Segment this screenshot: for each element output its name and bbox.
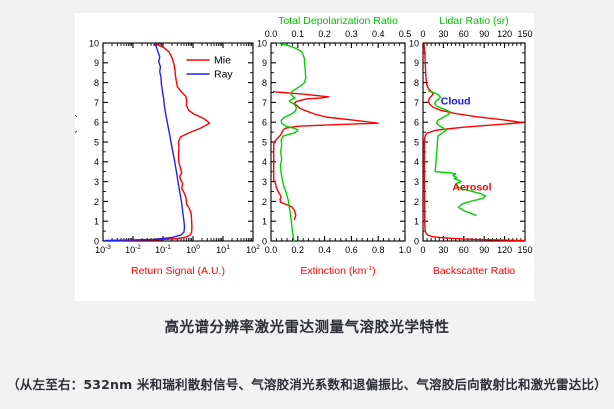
- x-top-ticklabel: 0.5: [399, 29, 412, 39]
- y-ticklabel: 8: [262, 78, 267, 88]
- x-bottom-ticklabel: 150: [517, 245, 532, 255]
- y-ticklabel: 2: [414, 197, 419, 207]
- y-ticklabel: 3: [262, 177, 267, 187]
- x-bottom-ticklabel: 0.2: [292, 245, 305, 255]
- x-bottom-ticklabel: 0.6: [345, 245, 358, 255]
- y-ticklabel: 6: [414, 118, 419, 128]
- y-ticklabel: 9: [414, 58, 419, 68]
- y-axis-title: Altitude (km): [75, 114, 78, 170]
- y-ticklabel: 5: [262, 137, 267, 147]
- y-ticklabel: 1: [262, 217, 267, 227]
- x-axis-title-top: Lidar Ratio (sr): [439, 15, 508, 27]
- x-bottom-ticklabel: 1.0: [399, 245, 412, 255]
- legend-label-mie: Mie: [214, 55, 231, 67]
- x-top-ticklabel: 150: [517, 29, 532, 39]
- y-ticklabel: 6: [94, 118, 99, 128]
- y-ticklabel: 4: [262, 157, 267, 167]
- y-ticklabel: 5: [414, 137, 419, 147]
- y-ticklabel: 2: [262, 197, 267, 207]
- y-ticklabel: 10: [257, 38, 267, 48]
- x-top-ticklabel: 120: [497, 29, 512, 39]
- y-ticklabel: 7: [414, 98, 419, 108]
- y-ticklabel: 9: [262, 58, 267, 68]
- y-ticklabel: 5: [94, 137, 99, 147]
- x-bottom-ticklabel: 0.0: [265, 245, 278, 255]
- lidar-figure: 01234567891001234567891001234567891010-3…: [75, 13, 534, 301]
- x-bottom-ticklabel: 120: [497, 245, 512, 255]
- y-ticklabel: 6: [262, 118, 267, 128]
- x-bottom-ticklabel: 0.8: [372, 245, 385, 255]
- y-ticklabel: 0: [414, 236, 419, 246]
- y-ticklabel: 7: [262, 98, 267, 108]
- y-ticklabel: 2: [94, 197, 99, 207]
- x-bottom-ticklabel: 60: [459, 245, 469, 255]
- figure-subtitle: （从左至右：532nm 米和瑞利散射信号、气溶胶消光系数和退偏振比、气溶胶后向散…: [0, 338, 614, 394]
- x-top-ticklabel: 0.0: [265, 29, 278, 39]
- x-axis-title-bottom: Extinction (km-1): [300, 265, 375, 277]
- y-ticklabel: 8: [414, 78, 419, 88]
- y-ticklabel: 1: [94, 217, 99, 227]
- y-ticklabel: 3: [94, 177, 99, 187]
- y-ticklabel: 3: [414, 177, 419, 187]
- x-bottom-ticklabel: 90: [479, 245, 489, 255]
- x-top-ticklabel: 30: [438, 29, 448, 39]
- x-top-ticklabel: 0.3: [345, 29, 358, 39]
- x-top-ticklabel: 0: [420, 29, 425, 39]
- y-ticklabel: 10: [89, 38, 99, 48]
- x-top-ticklabel: 60: [459, 29, 469, 39]
- figure-title: 高光谱分辨率激光雷达测量气溶胶光学特性: [0, 318, 614, 338]
- legend-label-ray: Ray: [214, 69, 233, 81]
- x-top-ticklabel: 90: [479, 29, 489, 39]
- x-axis-title-bottom: Backscatter Ratio: [433, 265, 515, 277]
- y-ticklabel: 7: [94, 98, 99, 108]
- x-top-ticklabel: 0.4: [372, 29, 385, 39]
- x-bottom-ticklabel: 30: [438, 245, 448, 255]
- x-bottom-ticklabel: 0: [420, 245, 425, 255]
- x-top-ticklabel: 0.2: [318, 29, 331, 39]
- y-ticklabel: 9: [94, 58, 99, 68]
- y-ticklabel: 4: [414, 157, 419, 167]
- y-ticklabel: 10: [409, 38, 419, 48]
- y-ticklabel: 4: [94, 157, 99, 167]
- caption-block: 高光谱分辨率激光雷达测量气溶胶光学特性 （从左至右：532nm 米和瑞利散射信号…: [0, 318, 614, 394]
- y-ticklabel: 8: [94, 78, 99, 88]
- x-bottom-ticklabel: 0.4: [318, 245, 331, 255]
- annotation-cloud: Cloud: [441, 95, 471, 107]
- y-ticklabel: 1: [414, 217, 419, 227]
- annotation-aerosol: Aerosol: [452, 182, 491, 194]
- figure-background: [75, 13, 534, 301]
- x-axis-title-left: Return Signal (A.U.): [131, 265, 225, 277]
- x-top-ticklabel: 0.1: [292, 29, 305, 39]
- figure-panel: 01234567891001234567891001234567891010-3…: [75, 13, 534, 301]
- x-axis-title-top: Total Depolarization Ratio: [278, 15, 398, 27]
